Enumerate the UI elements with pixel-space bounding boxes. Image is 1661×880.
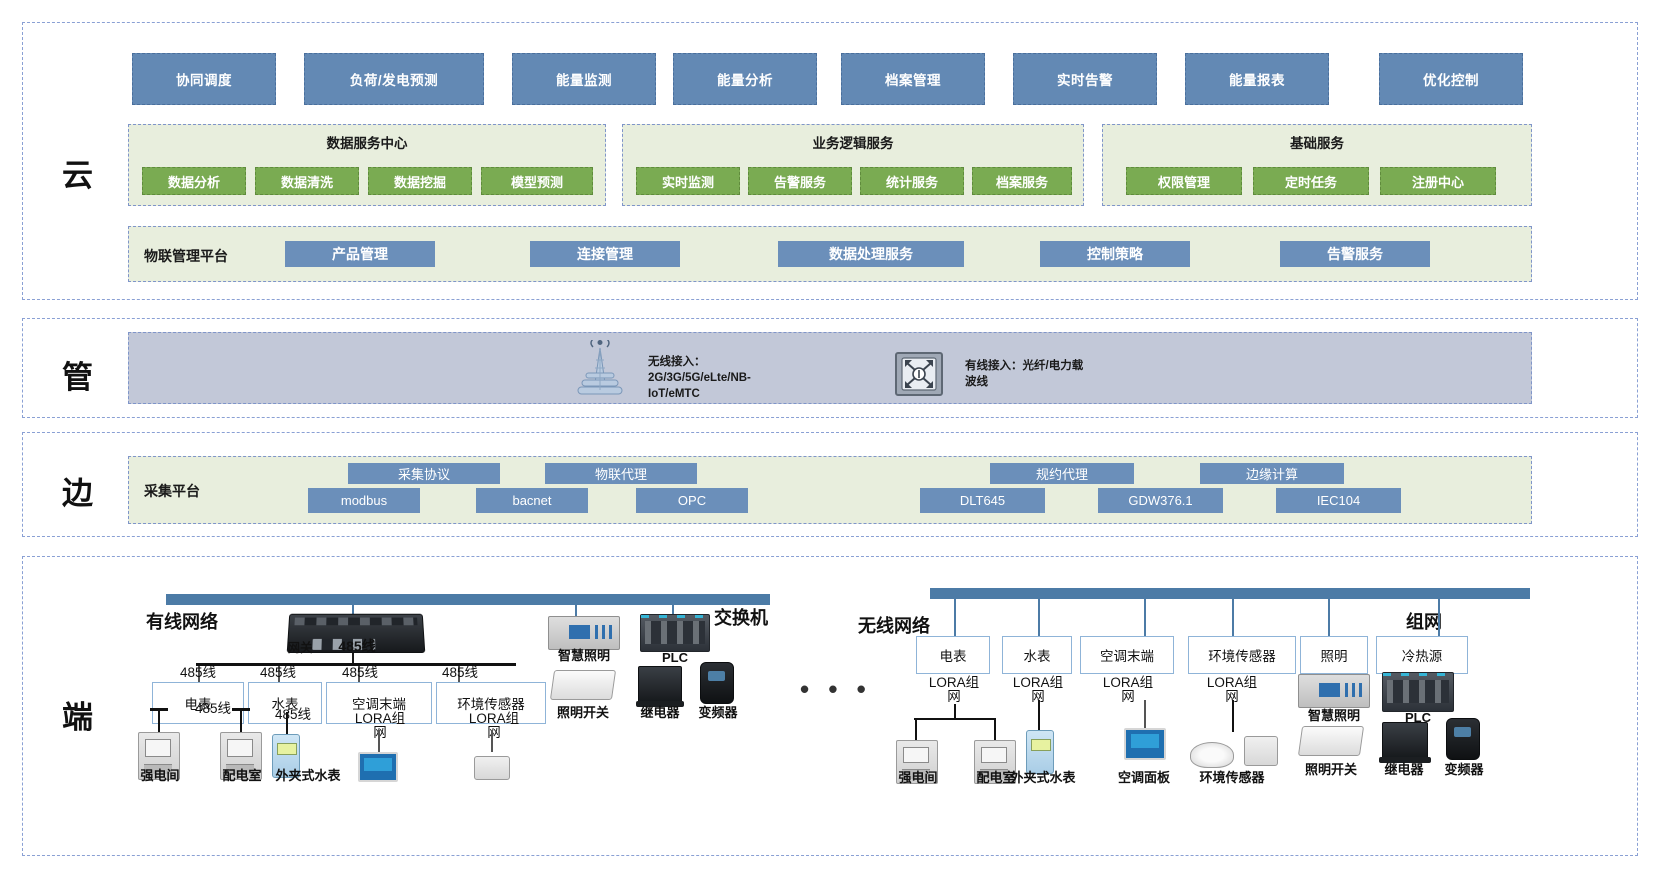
wireless-drop-0 [954,594,956,636]
wired-gateway-label: 网关 [276,641,324,655]
wired-leaf-cap-1 [232,708,250,711]
pipe-band-label: 管 [62,352,94,397]
iot-chip-data-processing-service[interactable]: 数据处理服务 [778,241,964,267]
pipe-wireless-text: 无线接入： 2G/3G/5G/eLte/NB- IoT/eMTC [648,354,838,402]
app-tile-5[interactable]: 实时告警 [1013,53,1157,105]
pipe-wired-text: 有线接入：光纤/电力载 波线 [965,358,1165,390]
wireless-hvac-panel-icon [1124,728,1166,760]
wireless-sublink-label-0: LORA组网 [928,676,980,704]
wireless-network-label: 组网 [1406,608,1442,634]
wired-network-title: 有线网络 [146,608,218,634]
smoke-detector-icon [1190,742,1234,768]
wireless-meter-split-bar [914,718,996,720]
edge-chip-iot-agent[interactable]: 物联代理 [545,463,697,484]
light-switch-icon-wireless [1298,726,1364,756]
cell-tower-icon [572,340,628,398]
wireless-drop-2 [1144,594,1146,636]
wireless-device-water-meter[interactable]: 水表 [1002,636,1072,674]
wireless-network-title: 无线网络 [858,612,930,638]
wired-side-label-plc: PLC [640,650,710,665]
edge-band-label: 边 [62,468,94,513]
wired-side-label-smart-lighting: 智慧照明 [548,648,620,663]
terminal-band-label: 端 [62,692,94,737]
app-tile-4[interactable]: 档案管理 [841,53,985,105]
wireless-drop-3 [1232,594,1234,636]
cloud-band-label: 云 [62,150,94,195]
architecture-diagram: 云 协同调度 负荷/发电预测 能量监测 能量分析 档案管理 实时告警 能量报表 … [0,0,1661,880]
service-chip-realtime-monitor[interactable]: 实时监测 [636,167,740,195]
app-tile-6[interactable]: 能量报表 [1185,53,1329,105]
app-tile-2[interactable]: 能量监测 [512,53,656,105]
relay-icon-wireless [1382,722,1428,760]
wireless-env-sensor-icon [1244,736,1278,766]
wireless-network-bus [930,588,1530,599]
edge-chip-collection-protocol[interactable]: 采集协议 [348,463,500,484]
wired-branch-label-1: 485线 [238,666,318,680]
wired-leaf-drop-meter-1 [240,708,242,732]
wired-branch-label-3: 485线 [420,666,500,680]
iot-platform-label: 物联管理平台 [144,246,228,266]
service-chip-data-mining[interactable]: 数据挖掘 [368,167,472,195]
wired-leaf-drop-water [286,712,288,734]
service-chip-scheduled-task[interactable]: 定时任务 [1253,167,1369,195]
wired-network-bus [166,594,770,605]
smart-lighting-icon-wireless [1298,674,1370,708]
iot-chip-product-management[interactable]: 产品管理 [285,241,435,267]
service-group-title-2: 基础服务 [1103,132,1531,152]
wireless-device-env-sensor[interactable]: 环境传感器 [1188,636,1296,674]
app-tile-0[interactable]: 协同调度 [132,53,276,105]
service-chip-model-prediction[interactable]: 模型预测 [481,167,593,195]
vfd-icon-wireless [1446,718,1480,760]
iot-chip-control-strategy[interactable]: 控制策略 [1040,241,1190,267]
wired-gateway-bus-label: 485线 [322,639,392,653]
app-tile-7[interactable]: 优化控制 [1379,53,1523,105]
app-tile-1[interactable]: 负荷/发电预测 [304,53,484,105]
wired-leaf-drop-sensor [491,730,493,752]
wired-leaf-drop-meter-0 [158,708,160,732]
wireless-device-hvac-terminal[interactable]: 空调末端 [1080,636,1174,674]
iot-chip-connection-management[interactable]: 连接管理 [530,241,680,267]
wireless-sublink-label-2: LORA组网 [1102,676,1154,704]
wired-sublink-label-1: 485线 [258,708,328,722]
wired-side-label-light-switch: 照明开关 [546,705,620,720]
wired-side-label-relay: 继电器 [628,705,692,720]
service-chip-data-analysis[interactable]: 数据分析 [142,167,246,195]
service-group-title-1: 业务逻辑服务 [623,132,1083,152]
edge-chip-protocol-agent[interactable]: 规约代理 [990,463,1134,484]
wired-switch-label: 交换机 [714,604,768,630]
wireless-side-label-vfd: 变频器 [1432,762,1496,777]
section-separator-dots: • • • [800,674,872,705]
app-tile-3[interactable]: 能量分析 [673,53,817,105]
service-chip-statistics-service[interactable]: 统计服务 [860,167,964,195]
wired-bus-drop-lighting [575,598,577,616]
wired-leaf-cap-0 [150,708,168,711]
wireless-meter-drop-1 [994,718,996,740]
wired-side-label-vfd: 变频器 [686,705,750,720]
wireless-water-drop [1038,700,1040,730]
wired-sublink-label-2: LORA组网 [352,712,408,740]
edge-chip-gdw3761[interactable]: GDW376.1 [1098,488,1223,513]
hvac-panel-icon [358,752,398,782]
wireless-bottom-label-3: 空调面板 [1104,770,1184,785]
service-chip-alarm-service[interactable]: 告警服务 [748,167,852,195]
wireless-panel-drop [1144,700,1146,728]
vfd-icon-wired [700,662,734,704]
wired-leaf-drop-panel [378,730,380,752]
wireless-side-label-smart-lighting: 智慧照明 [1298,708,1370,723]
wireless-device-cooling-heating[interactable]: 冷热源 [1376,636,1468,674]
smart-lighting-icon-wired [548,616,620,650]
wireless-drop-4 [1328,594,1330,636]
edge-chip-opc[interactable]: OPC [636,488,748,513]
wireless-drop-1 [1038,594,1040,636]
service-chip-permission-management[interactable]: 权限管理 [1126,167,1242,195]
wired-branch-label-2: 485线 [320,666,400,680]
wired-bottom-label-2: 外夹式水表 [262,768,354,783]
wireless-drop-5 [1438,594,1440,636]
edge-platform-label: 采集平台 [144,481,200,501]
wired-sublink-label-3: LORA组网 [466,712,522,740]
wireless-bottom-label-0: 强电间 [886,770,950,785]
wireless-bottom-label-4: 环境传感器 [1178,770,1286,785]
iot-chip-alarm-service[interactable]: 告警服务 [1280,241,1430,267]
wireless-sensor-drop [1232,700,1234,732]
edge-chip-iec104[interactable]: IEC104 [1276,488,1401,513]
edge-chip-edge-computing[interactable]: 边缘计算 [1200,463,1344,484]
plc-icon-wired [640,614,710,652]
service-chip-registry-center[interactable]: 注册中心 [1380,167,1496,195]
edge-chip-bacnet[interactable]: bacnet [476,488,588,513]
relay-icon-wired [638,666,682,704]
wireless-meter-drop-0 [915,718,917,740]
service-chip-archive-service[interactable]: 档案服务 [972,167,1072,195]
edge-chip-dlt645[interactable]: DLT645 [920,488,1045,513]
edge-chip-modbus[interactable]: modbus [308,488,420,513]
env-sensor-icon [474,756,510,780]
wireless-device-lighting[interactable]: 照明 [1300,636,1368,674]
wireless-device-electric-meter[interactable]: 电表 [916,636,990,674]
wireless-side-label-relay: 继电器 [1372,762,1436,777]
light-switch-icon-wired [550,670,616,700]
wireless-side-label-light-switch: 照明开关 [1294,762,1368,777]
network-switch-icon [895,352,943,396]
wired-bottom-label-0: 强电间 [128,768,192,783]
wireless-bottom-label-2: 外夹式水表 [996,770,1090,785]
wireless-water-meter-icon [1026,730,1054,774]
service-chip-data-cleaning[interactable]: 数据清洗 [255,167,359,195]
plc-icon-wireless [1382,672,1454,712]
wired-branch-label-0: 485线 [158,666,238,680]
service-group-title-0: 数据服务中心 [129,132,605,152]
